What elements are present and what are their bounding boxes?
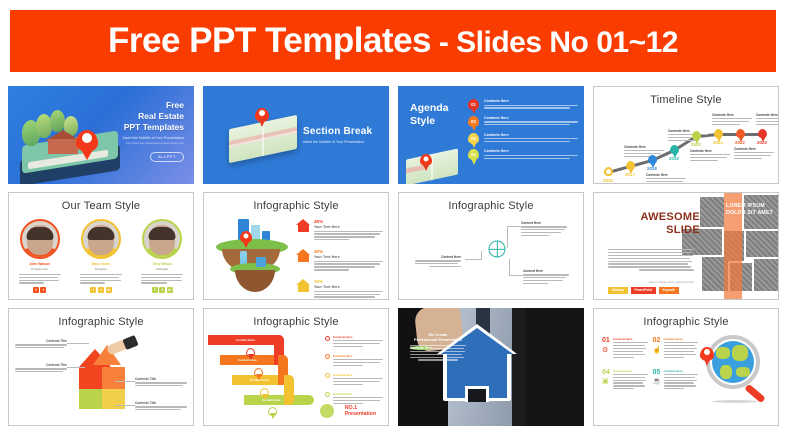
agenda-list: 01Contents Here02Contents Here03Contents… (468, 99, 578, 166)
label-title: Contents Title (15, 363, 67, 367)
slide-thumbnail-08[interactable]: LOREM IPSUM DOLOR SIT AMET AWESOME SLIDE… (593, 192, 779, 300)
roadmap-item: Content Here (325, 392, 383, 406)
agenda-item-number: 03 (471, 136, 476, 141)
team-member[interactable]: John WatsonProgrammerft (14, 219, 66, 293)
bullet-icon (325, 354, 330, 359)
slide-08-body (608, 249, 694, 272)
numbered-item-04: 04▣Content Here (602, 369, 648, 392)
slide-01-title-line-2: Real Estate (123, 111, 184, 122)
slide-08-button[interactable]: Mockup (608, 287, 628, 294)
slide-08-heading: AWESOME SLIDE (608, 211, 700, 236)
numbered-pin-icon: 03 (468, 133, 479, 144)
numbered-pin-icon: 01 (468, 99, 479, 110)
agenda-item-title: Contents Here (484, 99, 578, 103)
slide-01-subtitle: Insert the Subtitle of Your Presentation (123, 136, 184, 140)
stat-title: Your Text Here (314, 285, 383, 289)
agenda-item-03[interactable]: 03Contents Here (468, 133, 578, 144)
agenda-item-04[interactable]: 04Contents Here (468, 149, 578, 160)
map-pin-icon (255, 108, 269, 122)
slide-08-buttons: MockupPowerPointKeynote (608, 287, 679, 294)
timeline-node-2017[interactable] (626, 161, 635, 170)
timeline-label-title: Contents Here (646, 173, 686, 177)
timeline-node-2018[interactable] (648, 155, 657, 164)
floating-island-illustration (210, 217, 294, 295)
agenda-item-number: 02 (471, 119, 476, 124)
timeline-year-label: 2016 (603, 178, 613, 183)
roadmap-illustration: Content Here Content Here Content Here C… (208, 335, 320, 419)
slide-06-title: Infographic Style (204, 200, 388, 212)
timeline-label: Contents Here (734, 147, 774, 161)
agenda-item-title: Contents Here (484, 116, 578, 120)
timeline-label: Contents Here (624, 145, 664, 159)
puzzle-label-3: Contents Title (135, 377, 187, 388)
header-banner: Free PPT Templates - Slides No 01~12 (10, 10, 776, 72)
bullet-icon (325, 373, 330, 378)
slide-thumbnail-11[interactable]: We Create Professional Presentation Cont… (398, 308, 584, 426)
timeline-year-label: 2023 (757, 140, 767, 145)
callout-top-right: Content Here (521, 221, 567, 238)
road-label-1: Content Here (236, 338, 255, 342)
item-number: 04 (602, 369, 610, 377)
timeline-label-title: Contents Here (756, 113, 779, 117)
footer-line-2: Presentation (345, 411, 376, 417)
label-title: Contents Title (15, 339, 67, 343)
timeline-label-title: Contents Here (668, 129, 708, 133)
map-pin-icon (700, 347, 714, 361)
timeline-label: Contents Here (756, 113, 779, 127)
roadmap-item-title: Content Here (333, 373, 383, 377)
timeline-label-title: Contents Here (712, 113, 752, 117)
member-name: Tony Wilson (136, 262, 188, 266)
slide-thumbnail-06[interactable]: Infographic Style 45%Your Text Here30%Yo… (203, 192, 389, 300)
agenda-item-number: 01 (471, 102, 476, 107)
house-island-illustration (14, 106, 126, 180)
slide-03-heading: Agenda Style (410, 102, 449, 128)
thumb-up-icon: ☝ (653, 347, 661, 355)
slide-thumbnail-07[interactable]: Infographic Style Content Here Content H… (398, 192, 584, 300)
slide-12-title: Infographic Style (594, 316, 778, 328)
slide-08-signature: Easy to change colors, photos and Text (608, 281, 694, 284)
slide-02-heading: Section Break (303, 126, 372, 137)
stat-percent: 45% (314, 219, 383, 224)
banner-title-main: Free PPT Templates (108, 21, 431, 60)
road-pin-2 (254, 368, 263, 377)
social-icon-f[interactable]: f (152, 287, 158, 293)
timeline-year-label: 2021 (713, 140, 723, 145)
roadmap-item: Content Here (325, 354, 383, 368)
slide-01-text: Free Real Estate PPT Templates Insert th… (123, 100, 184, 163)
agenda-item-title: Contents Here (484, 133, 578, 137)
item-title: Content Here (613, 369, 648, 373)
label-title: Contents Title (135, 401, 187, 405)
slide-05-title: Our Team Style (9, 200, 193, 212)
building-icon (296, 279, 310, 292)
cycle-diagram (475, 227, 519, 271)
agenda-item-02[interactable]: 02Contents Here (468, 116, 578, 127)
timeline-label: Contents Here (690, 149, 730, 163)
timeline-year-label: 2017 (625, 172, 635, 177)
social-icon-t[interactable]: t (98, 287, 104, 293)
item-number: 05 (653, 369, 661, 377)
roadmap-item-title: Content Here (333, 335, 383, 339)
globe-icon (489, 241, 506, 258)
callout-title: Content Here (521, 221, 567, 225)
label-title: Contents Title (135, 377, 187, 381)
hand-icon (103, 337, 137, 367)
callout-left: Content Here (415, 255, 461, 269)
timeline-label: Contents Here (668, 129, 708, 143)
slide-thumbnail-02[interactable]: Section Break Insert the Subtitle of You… (203, 86, 389, 184)
agenda-item-01[interactable]: 01Contents Here (468, 99, 578, 110)
slide-08-button[interactable]: Keynote (659, 287, 680, 294)
numbered-item-01: 01⚙Content Here (602, 337, 648, 360)
puzzle-label-2: Contents Title (15, 363, 67, 374)
map-pin-icon (76, 130, 98, 152)
timeline-label-title: Contents Here (690, 149, 730, 153)
slide-thumbnail-10[interactable]: Infographic Style Content Here Content H… (203, 308, 389, 426)
overlay-line-1: LOREM IPSUM (726, 203, 774, 210)
house-puzzle-illustration (71, 339, 133, 409)
photo-collage: LOREM IPSUM DOLOR SIT AMET (700, 193, 778, 299)
social-icon-t[interactable]: t (40, 287, 46, 293)
slide-thumbnail-05[interactable]: Our Team Style John WatsonProgrammerftMa… (8, 192, 194, 300)
gear-icon: ⚙ (602, 347, 610, 355)
banner-title-sub: - Slides No 01~12 (431, 26, 678, 59)
timeline-year-label: 2022 (735, 140, 745, 145)
slide-04-title: Timeline Style (594, 94, 778, 106)
item-title: Content Here (664, 369, 699, 373)
camera-icon: ▣ (602, 378, 610, 386)
timeline-node-2022[interactable] (736, 129, 745, 138)
folded-map-illustration (406, 148, 458, 184)
slide-thumbnail-01[interactable]: Free Real Estate PPT Templates Insert th… (8, 86, 194, 184)
slide-thumbnail-03[interactable]: Agenda Style 01Contents Here02Contents H… (398, 86, 584, 184)
stat-item: 30%Your Text Here (296, 249, 383, 272)
roadmap-item-title: Content Here (333, 354, 383, 358)
avatar (20, 219, 60, 259)
member-name: John Watson (14, 262, 66, 266)
stat-item: 15%Your Text Here (296, 279, 383, 300)
thumb-up-icon (320, 404, 334, 418)
team-member[interactable]: Tony WilsonManagerftin (136, 219, 188, 293)
member-role: Programmer (14, 267, 66, 271)
item-number: 01 (602, 337, 610, 345)
social-icon-t[interactable]: t (159, 287, 165, 293)
slide-10-title: Infographic Style (204, 316, 388, 328)
timeline-year-label: 2019 (669, 156, 679, 161)
cup-icon: ☕ (653, 378, 661, 386)
stat-title: Your Text Here (314, 255, 383, 259)
avatar (81, 219, 121, 259)
overlay-line-2: DOLOR SIT AMET (726, 210, 774, 217)
social-icon-in[interactable]: in (167, 287, 173, 293)
puzzle-label-1: Contents Title (15, 339, 67, 350)
timeline-label-title: Contents Here (734, 147, 774, 151)
numbered-item-05: 05☕Content Here (653, 369, 699, 392)
bullet-icon (325, 336, 330, 341)
slide-08-button[interactable]: PowerPoint (631, 287, 657, 294)
timeline-node-2021[interactable] (714, 129, 723, 138)
slide-10-footer: NO.1 Presentation (345, 405, 376, 417)
roadmap-item-list: Content HereContent HereContent HereCont… (325, 335, 383, 410)
numbered-pin-icon: 02 (468, 116, 479, 127)
timeline-year-label: 2020 (691, 142, 701, 147)
member-role: Designer (75, 267, 127, 271)
slide-thumbnail-09[interactable]: Infographic Style Contents Title Content… (8, 308, 194, 426)
roadmap-item: Content Here (325, 373, 383, 387)
timeline-label: Contents Here (646, 173, 686, 184)
timeline-label: Contents Here (712, 113, 752, 127)
slide-thumbnail-04[interactable]: Timeline Style 2016Contents Here2017Cont… (593, 86, 779, 184)
slide-01-url: https://www.free-powerpoint-templates-de… (123, 142, 184, 145)
slide-thumbnail-12[interactable]: Infographic Style 01⚙Content Here02☝Cont… (593, 308, 779, 426)
slide-02-text: Section Break Insert the Subtitle of You… (303, 126, 372, 144)
member-name: Mary Jones (75, 262, 127, 266)
slide-01-title-line-3: PPT Templates (123, 122, 184, 133)
puzzle-label-4: Contents Title (135, 401, 187, 412)
roadmap-item: Content Here (325, 335, 383, 349)
slide-11-text: We Create Professional Presentation Cont… (410, 332, 466, 361)
timeline-node-2019[interactable] (670, 145, 679, 154)
map-pin-icon (420, 154, 432, 166)
numbered-item-grid: 01⚙Content Here02☝Content Here04▣Content… (602, 337, 698, 391)
slides-grid: Free Real Estate PPT Templates Insert th… (8, 86, 778, 438)
stat-percent: 30% (314, 249, 383, 254)
road-pin-1 (246, 348, 255, 357)
stat-item: 45%Your Text Here (296, 219, 383, 242)
template-preview-page: Free PPT Templates - Slides No 01~12 Fre… (0, 0, 786, 445)
callout-bottom-right: Content Here (523, 269, 569, 286)
social-icon-f[interactable]: f (33, 287, 39, 293)
slide-02-subtitle: Insert the Subtitle of Your Presentation (303, 140, 372, 144)
avatar (142, 219, 182, 259)
slide-01-badge: ALLPPT (150, 152, 184, 162)
slide-11-heading-line-2: Professional Presentation (410, 337, 466, 342)
timeline-node-2016[interactable] (604, 167, 613, 176)
timeline-label-title: Contents Here (624, 145, 664, 149)
slide-09-title: Infographic Style (9, 316, 193, 328)
timeline-node-2020[interactable] (692, 131, 701, 140)
numbered-item-02: 02☝Content Here (653, 337, 699, 360)
callout-title: Content Here (415, 255, 461, 259)
slide-07-title: Infographic Style (399, 200, 583, 212)
timeline-node-2023[interactable] (758, 129, 767, 138)
building-icon (296, 249, 310, 262)
member-role: Manager (136, 267, 188, 271)
stat-list: 45%Your Text Here30%Your Text Here15%You… (296, 219, 383, 300)
item-title: Content Here (664, 337, 699, 341)
numbered-pin-icon: 04 (468, 149, 479, 160)
map-pin-icon (240, 231, 252, 243)
timeline-chart: 2016Contents Here2017Contents Here2018Co… (594, 109, 778, 179)
building-icon (296, 219, 310, 232)
stat-percent: 15% (314, 279, 383, 284)
overlay-text: LOREM IPSUM DOLOR SIT AMET (726, 203, 774, 216)
slide-08-heading-line-1: AWESOME (608, 211, 700, 224)
slide-03-heading-line-1: Agenda (410, 102, 449, 115)
road-pin-3 (260, 388, 269, 397)
roadmap-item-title: Content Here (333, 392, 383, 396)
social-icon-in[interactable]: in (106, 287, 112, 293)
agenda-item-number: 04 (471, 152, 476, 157)
callout-title: Content Here (523, 269, 569, 273)
slide-01-title-line-1: Free (123, 100, 184, 111)
slide-11-subheading: Contents Here (410, 346, 432, 350)
stat-title: Your Text Here (314, 225, 383, 229)
bullet-icon (325, 392, 330, 397)
team-member-list: John WatsonProgrammerftMary JonesDesigne… (9, 219, 193, 293)
item-title: Content Here (613, 337, 648, 341)
globe-magnifier-illustration (702, 333, 768, 403)
banner-title: Free PPT Templates - Slides No 01~12 (108, 21, 678, 61)
social-icon-f[interactable]: f (90, 287, 96, 293)
slide-03-heading-line-2: Style (410, 115, 449, 128)
road-pin-4 (268, 407, 277, 416)
team-member[interactable]: Mary JonesDesignerftin (75, 219, 127, 293)
item-number: 02 (653, 337, 661, 345)
slide-08-heading-line-2: SLIDE (608, 224, 700, 237)
timeline-year-label: 2018 (647, 166, 657, 171)
agenda-item-title: Contents Here (484, 149, 578, 153)
